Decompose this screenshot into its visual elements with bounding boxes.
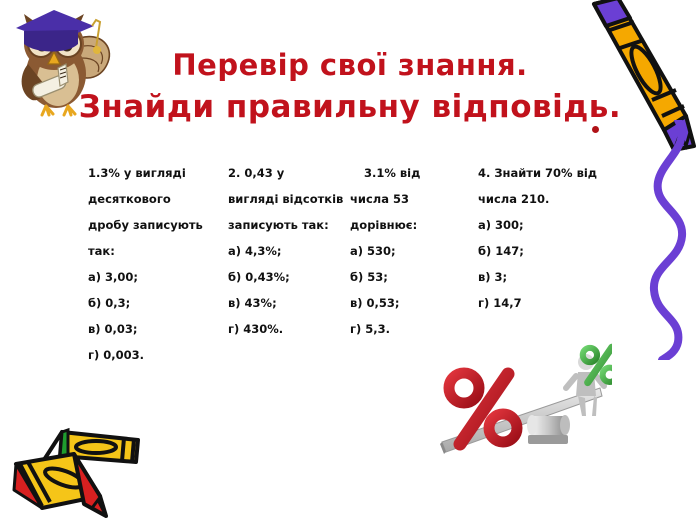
question-3-prompt-line-2: числа 53 (350, 186, 420, 212)
squiggle-purple-icon (636, 120, 700, 360)
question-2-option-b[interactable]: б) 0,43%; (228, 264, 343, 290)
question-3-prompt-line-3: дорівнює: (350, 212, 420, 238)
owl-graduate-icon (2, 2, 127, 122)
question-2-prompt-line-3: записують так: (228, 212, 343, 238)
question-1-option-g[interactable]: г) 0,003. (88, 342, 203, 368)
question-4-prompt-line-2: числа 210. (478, 186, 597, 212)
question-4: 4. Знайти 70% від числа 210. а) 300; б) … (478, 160, 597, 316)
question-3-option-a[interactable]: а) 530; (350, 238, 420, 264)
question-4-option-g[interactable]: г) 14,7 (478, 290, 597, 316)
question-1-option-a[interactable]: а) 3,00; (88, 264, 203, 290)
slide-canvas: Перевір свої знання. Знайди правильну ві… (0, 0, 700, 525)
question-4-prompt-line-1: 4. Знайти 70% від (478, 160, 597, 186)
percent-seesaw-icon (424, 336, 612, 460)
question-1-option-v[interactable]: в) 0,03; (88, 316, 203, 342)
question-1: 1.3% у вигляді десяткового дробу записую… (88, 160, 203, 368)
question-3-option-b[interactable]: б) 53; (350, 264, 420, 290)
question-2-option-v[interactable]: в) 43%; (228, 290, 343, 316)
red-dot-icon (592, 126, 599, 133)
question-3-option-v[interactable]: в) 0,53; (350, 290, 420, 316)
question-1-prompt-line-2: десяткового (88, 186, 203, 212)
question-3-prompt-line-1: 3.1% від (350, 160, 420, 186)
question-2-prompt-line-1: 2. 0,43 у (228, 160, 343, 186)
question-2: 2. 0,43 у вигляді відсотків записують та… (228, 160, 343, 342)
question-1-prompt-line-3: дробу записують (88, 212, 203, 238)
question-2-option-g[interactable]: г) 430%. (228, 316, 343, 342)
crayons-pair-icon (6, 418, 158, 522)
question-4-option-b[interactable]: б) 147; (478, 238, 597, 264)
question-1-prompt-line-4: так: (88, 238, 203, 264)
question-3: 3.1% від числа 53 дорівнює: а) 530; б) 5… (350, 160, 420, 342)
question-3-option-g[interactable]: г) 5,3. (350, 316, 420, 342)
question-4-option-a[interactable]: а) 300; (478, 212, 597, 238)
question-1-prompt-line-1: 1.3% у вигляді (88, 160, 203, 186)
question-2-option-a[interactable]: а) 4,3%; (228, 238, 343, 264)
question-2-prompt-line-2: вигляді відсотків (228, 186, 343, 212)
question-1-option-b[interactable]: б) 0,3; (88, 290, 203, 316)
question-4-option-v[interactable]: в) 3; (478, 264, 597, 290)
